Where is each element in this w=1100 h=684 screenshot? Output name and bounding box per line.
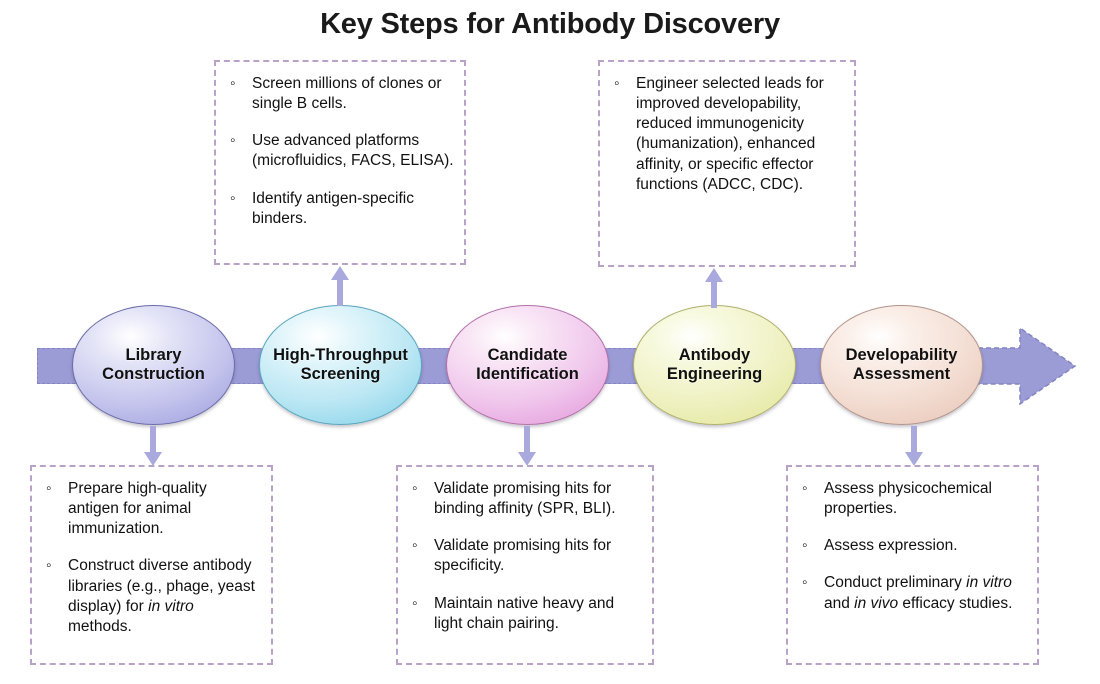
step-node-library-construction[interactable]: Library Construction: [72, 305, 235, 425]
diagram-canvas: Key Steps for Antibody Discovery Library…: [0, 0, 1100, 684]
list-item: ◦ Engineer selected leads for improved d…: [608, 74, 844, 195]
bullet-marker-icon: ◦: [46, 556, 52, 576]
step-label-line2: Engineering: [667, 365, 762, 383]
bullet-marker-icon: ◦: [230, 131, 236, 151]
step-node-antibody-engineering[interactable]: Antibody Engineering: [633, 305, 796, 425]
bullet-marker-icon: ◦: [412, 536, 418, 556]
detail-box-developability: ◦ Assess physicochemical properties. ◦ A…: [786, 465, 1039, 665]
detail-box-library: ◦ Prepare high-quality antigen for anima…: [30, 465, 273, 665]
bullet-list: ◦ Validate promising hits for binding af…: [406, 479, 642, 634]
connector-arrow-up-engineering: [703, 268, 725, 308]
bullet-list: ◦ Prepare high-quality antigen for anima…: [40, 479, 261, 637]
bullet-marker-icon: ◦: [614, 74, 620, 94]
connector-arrow-down-candidate: [516, 426, 538, 466]
bullet-marker-icon: ◦: [802, 479, 808, 499]
step-node-high-throughput-screening[interactable]: High-Throughput Screening: [259, 305, 422, 425]
step-node-developability-assessment[interactable]: Developability Assessment: [820, 305, 983, 425]
list-item: ◦ Assess physicochemical properties.: [796, 479, 1027, 519]
list-item: ◦ Maintain native heavy and light chain …: [406, 594, 642, 634]
list-item: ◦ Screen millions of clones or single B …: [224, 74, 454, 114]
bullet-marker-icon: ◦: [412, 479, 418, 499]
list-item-text: Assess physicochemical properties.: [824, 480, 992, 517]
list-item-text: Use advanced platforms (microfluidics, F…: [252, 132, 454, 169]
step-node-label: High-Throughput Screening: [267, 346, 414, 385]
bullet-marker-icon: ◦: [802, 536, 808, 556]
detail-box-screening: ◦ Screen millions of clones or single B …: [214, 60, 466, 265]
list-item-text: Validate promising hits for specificity.: [434, 537, 611, 574]
step-node-label: Antibody Engineering: [661, 346, 768, 385]
step-node-label: Library Construction: [96, 346, 211, 385]
step-node-candidate-identification[interactable]: Candidate Identification: [446, 305, 609, 425]
list-item: ◦ Use advanced platforms (microfluidics,…: [224, 131, 454, 171]
list-item: ◦ Validate promising hits for binding af…: [406, 479, 642, 519]
step-label-line2: Construction: [102, 365, 205, 383]
list-item-text: Validate promising hits for binding affi…: [434, 480, 616, 517]
connector-arrow-down-library: [142, 426, 164, 466]
page-title: Key Steps for Antibody Discovery: [0, 8, 1100, 41]
step-label-line2: Screening: [301, 365, 381, 383]
bullet-list: ◦ Screen millions of clones or single B …: [224, 74, 454, 229]
bullet-marker-icon: ◦: [412, 594, 418, 614]
list-item: ◦ Prepare high-quality antigen for anima…: [40, 479, 261, 539]
connector-arrow-up-screening: [329, 266, 351, 306]
list-item-text: Conduct preliminary in vitro and in vivo…: [824, 574, 1012, 611]
list-item: ◦ Construct diverse antibody libraries (…: [40, 556, 261, 637]
step-label-line1: Candidate: [488, 346, 568, 364]
bullet-marker-icon: ◦: [802, 573, 808, 593]
step-label-line1: Antibody: [679, 346, 751, 364]
list-item: ◦ Validate promising hits for specificit…: [406, 536, 642, 576]
bullet-marker-icon: ◦: [230, 74, 236, 94]
list-item-text: Identify antigen-specific binders.: [252, 190, 414, 227]
step-node-label: Candidate Identification: [470, 346, 585, 385]
bullet-marker-icon: ◦: [230, 189, 236, 209]
step-label-line2: Assessment: [853, 365, 950, 383]
list-item: ◦ Identify antigen-specific binders.: [224, 189, 454, 229]
step-label-line1: Library: [126, 346, 182, 364]
step-node-label: Developability Assessment: [840, 346, 964, 385]
bullet-marker-icon: ◦: [46, 479, 52, 499]
bullet-list: ◦ Assess physicochemical properties. ◦ A…: [796, 479, 1027, 614]
connector-arrow-down-developability: [903, 426, 925, 466]
bullet-list: ◦ Engineer selected leads for improved d…: [608, 74, 844, 195]
list-item-text: Prepare high-quality antigen for animal …: [68, 480, 207, 537]
list-item: ◦ Conduct preliminary in vitro and in vi…: [796, 573, 1027, 613]
step-label-line1: High-Throughput: [273, 346, 408, 364]
list-item-text: Engineer selected leads for improved dev…: [636, 75, 824, 193]
step-label-line1: Developability: [846, 346, 958, 364]
list-item-text: Screen millions of clones or single B ce…: [252, 75, 442, 112]
list-item-text: Construct diverse antibody libraries (e.…: [68, 557, 255, 634]
list-item-text: Maintain native heavy and light chain pa…: [434, 595, 614, 632]
step-label-line2: Identification: [476, 365, 579, 383]
list-item: ◦ Assess expression.: [796, 536, 1027, 556]
detail-box-engineering: ◦ Engineer selected leads for improved d…: [598, 60, 856, 267]
list-item-text: Assess expression.: [824, 537, 958, 554]
detail-box-candidate: ◦ Validate promising hits for binding af…: [396, 465, 654, 665]
